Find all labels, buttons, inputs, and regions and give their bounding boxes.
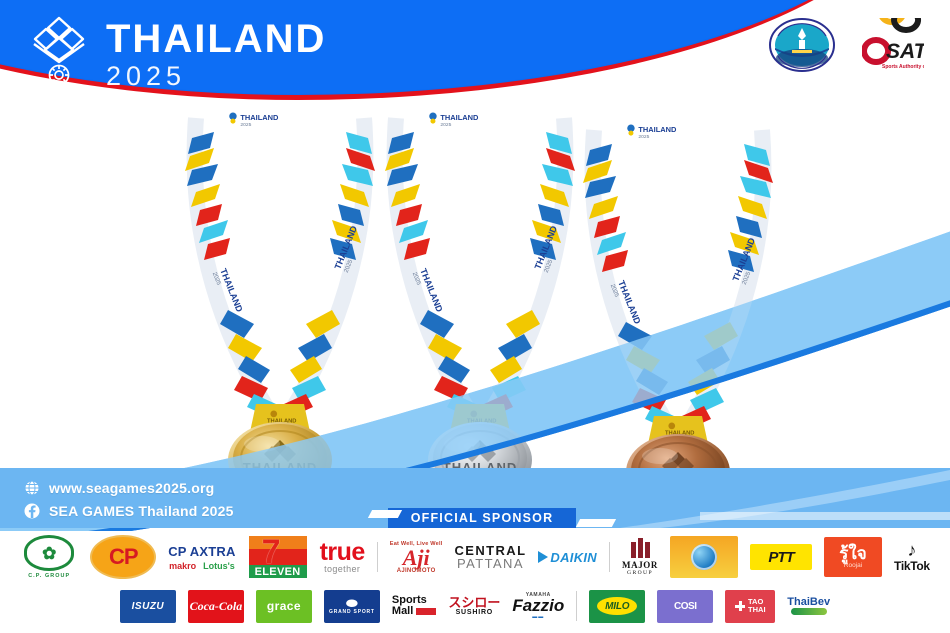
true-tagline: together [324, 564, 360, 574]
cp-axtra-makro-label: makro [169, 561, 196, 571]
sponsor-grand-sport[interactable]: ⬬ GRAND SPORT [324, 590, 380, 623]
sponsor-grace[interactable]: grace [256, 590, 312, 623]
sponsor-yamaha-fazzio[interactable]: YAMAHA Fazzio ▬▬ [512, 592, 564, 620]
sponsor-seven-eleven[interactable]: 7 ELEVEN [248, 536, 308, 578]
sponsor-row-primary: ✿ C.P. GROUP CP CP AXTRA makro Lotus's [0, 531, 950, 583]
sponsor-cosi[interactable]: COSI [657, 590, 713, 623]
sponsor-true[interactable]: true together [320, 540, 365, 574]
grand-sport-wing-icon: ⬬ [346, 597, 358, 609]
sponsor-row-secondary: ISUZU Coca-Cola grace ⬬ GRAND SPORT Spor… [0, 583, 950, 629]
medal-silver: THAILAND 2025 [380, 100, 580, 500]
sponsor-cp[interactable]: CP [90, 535, 156, 579]
cosi-label: COSI [674, 601, 696, 612]
sponsor-major-group[interactable]: MAJOR GROUP [622, 538, 658, 576]
ajinomoto-sublabel: AJINOMOTO [397, 568, 436, 574]
sponsor-central-pattana[interactable]: CENTRAL PATTANA [455, 544, 527, 570]
major-label: MAJOR [622, 560, 658, 570]
sponsor-isuzu[interactable]: ISUZU [120, 590, 176, 623]
website-url: www.seagames2025.org [49, 480, 214, 496]
seven-numeral-icon: 7 [262, 537, 281, 567]
sponsor-tiktok[interactable]: ♪ TikTok [894, 542, 930, 573]
sponsor-milo[interactable]: MILO [589, 590, 645, 623]
sponsor-tao-thai[interactable]: TAO THAI [725, 590, 775, 623]
daikin-arrow-icon [538, 551, 548, 563]
sponsor-cp-group[interactable]: ✿ C.P. GROUP [20, 535, 78, 579]
sponsor-ptt[interactable]: PTT [750, 544, 812, 570]
roojai-label: Roojai [844, 562, 862, 569]
sponsor-ajinomoto[interactable]: Eat Well, Live Well Aji AJINOMOTO [390, 541, 443, 574]
seagames-2025-medals-poster: THAILAND 2025 SAT Sports Authority of Th… [0, 0, 950, 633]
medal-bronze: THAILAND 2025 [578, 112, 778, 512]
website-line[interactable]: www.seagames2025.org [24, 477, 234, 499]
medals-stage: THAILAND 2025 [0, 100, 950, 500]
sports-mall-bar-icon [416, 608, 436, 615]
seagames-federation-emblem-icon [768, 16, 836, 74]
seven-eleven-label: ELEVEN [255, 566, 301, 578]
cp-axtra-label: CP AXTRA [168, 544, 235, 559]
sushiro-jp-label: スシロー [448, 596, 500, 609]
grand-sport-label: GRAND SPORT [329, 609, 375, 615]
true-label: true [320, 540, 365, 564]
thaibev-swoosh-icon [791, 608, 827, 615]
poster-header: THAILAND 2025 SAT Sports Authority of Th… [0, 0, 950, 115]
svg-text:THAILAND: THAILAND [240, 113, 279, 122]
svg-text:THAILAND: THAILAND [638, 125, 677, 134]
seven-stripe-green: ELEVEN [249, 565, 307, 578]
sponsor-divider-3 [576, 591, 577, 621]
tao-thai-cross-icon [735, 601, 745, 611]
grace-label: grace [267, 599, 301, 613]
thai-crown-emblem-icon [26, 14, 92, 86]
tao-thai-sublabel: THAI [748, 606, 766, 614]
milo-label: MILO [605, 601, 629, 612]
tiktok-note-icon: ♪ [907, 542, 916, 559]
official-sponsor-label: OFFICIAL SPONSOR [388, 508, 576, 528]
ptt-label: PTT [768, 549, 793, 566]
svg-text:SAT: SAT [886, 40, 924, 63]
sponsor-coca-cola[interactable]: Coca-Cola [188, 590, 244, 623]
cp-group-leaf-icon: ✿ [24, 535, 74, 571]
daikin-label: DAIKIN [550, 550, 597, 565]
sponsor-thaibev[interactable]: ThaiBev [787, 597, 830, 615]
cp-group-label: C.P. GROUP [28, 573, 70, 579]
pattana-label: PATTANA [457, 557, 524, 570]
sponsor-popwo[interactable] [670, 536, 738, 578]
sushiro-label: SUSHIRO [456, 609, 494, 616]
cp-label: CP [109, 544, 138, 570]
page-title: THAILAND [106, 18, 326, 60]
sat-logo-icon: SAT Sports Authority of Thailand [862, 18, 924, 74]
sponsor-roojai[interactable]: รู้ใจ Roojai [824, 537, 882, 577]
roojai-thai-label: รู้ใจ [839, 546, 866, 562]
sponsor-sushiro[interactable]: スシロー SUSHIRO [448, 596, 500, 616]
cp-axtra-lotuss-label: Lotus's [203, 561, 235, 571]
svg-text:2025: 2025 [638, 134, 649, 140]
sponsor-divider [377, 542, 378, 572]
medal-gold: THAILAND 2025 [180, 100, 380, 500]
sponsors-section: ✿ C.P. GROUP CP CP AXTRA makro Lotus's [0, 531, 950, 633]
svg-text:2025: 2025 [440, 122, 451, 128]
fazzio-label: Fazzio [512, 598, 564, 614]
major-pillars-icon [631, 538, 650, 558]
sponsor-divider-2 [609, 542, 610, 572]
sponsor-sports-mall[interactable]: Sports Mall [392, 595, 436, 617]
official-sponsor-banner: OFFICIAL SPONSOR [0, 508, 950, 530]
ajinomoto-label: Aji [403, 547, 430, 568]
coca-cola-label: Coca-Cola [190, 599, 243, 614]
svg-text:2025: 2025 [240, 122, 251, 128]
fazzio-underline: ▬▬ [532, 614, 544, 620]
popwo-ball-icon [691, 544, 717, 570]
tiktok-label: TikTok [894, 559, 930, 573]
sponsor-banner-right-notch [576, 519, 616, 527]
major-sublabel: GROUP [627, 570, 653, 576]
sports-mall-sublabel: Mall [392, 606, 413, 617]
svg-text:Sports Authority of Thailand: Sports Authority of Thailand [882, 64, 924, 70]
globe-icon [24, 480, 40, 496]
sponsor-daikin[interactable]: DAIKIN [538, 550, 597, 565]
brand-lockup: THAILAND 2025 [26, 14, 326, 90]
svg-text:THAILAND: THAILAND [440, 113, 479, 122]
isuzu-label: ISUZU [132, 601, 165, 612]
sponsor-cp-axtra[interactable]: CP AXTRA makro Lotus's [168, 544, 235, 571]
thaibev-label: ThaiBev [787, 597, 830, 608]
header-year: 2025 [106, 62, 326, 90]
